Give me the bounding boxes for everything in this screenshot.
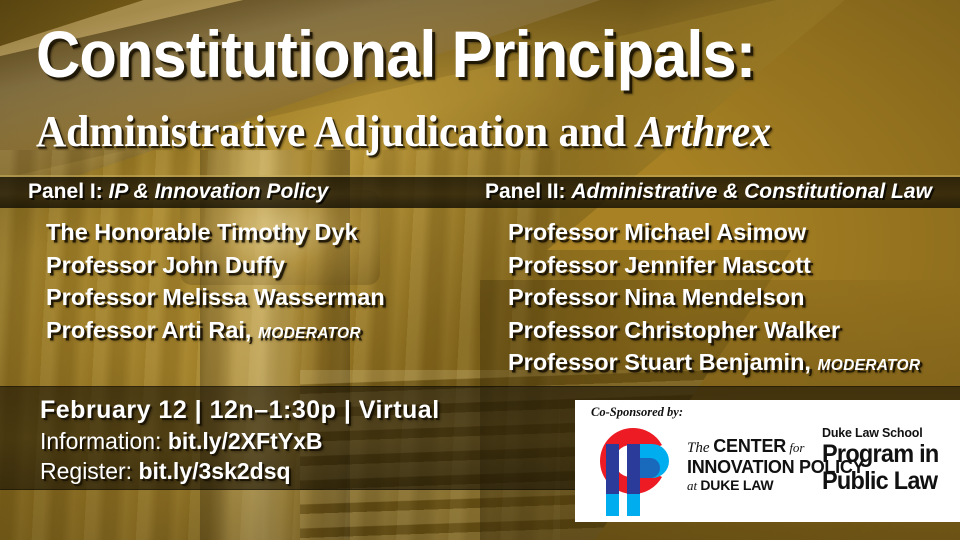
subtitle-prefix: Administrative Adjudication and: [36, 107, 636, 156]
cip-at: at: [687, 478, 700, 493]
cip-for: for: [786, 440, 804, 455]
information-label: Information:: [40, 428, 161, 454]
duke-law-school-label: Duke Law School: [822, 426, 946, 441]
cip-duke-law: DUKE LAW: [700, 477, 773, 493]
speaker-row: Professor Melissa Wasserman: [46, 283, 385, 316]
speaker-row: Professor Nina Mendelson: [508, 283, 920, 316]
speaker-name: Professor Melissa Wasserman: [46, 284, 385, 310]
speaker-row: Professor Christopher Walker: [508, 316, 920, 349]
speaker-row: The Honorable Timothy Dyk: [46, 218, 385, 251]
speaker-role: MODERATOR: [258, 325, 361, 342]
information-line: Information: bit.ly/2XFtYxB: [40, 428, 323, 455]
speaker-name: The Honorable Timothy Dyk: [46, 219, 358, 245]
event-datetime: February 12 | 12n–1:30p | Virtual: [40, 396, 440, 425]
speaker-name: Professor Jennifer Mascott: [508, 252, 811, 278]
program-in-line: Program in: [822, 441, 939, 468]
speaker-row: Professor Arti Rai, MODERATOR: [46, 316, 385, 349]
info-band-top-edge: [0, 386, 960, 387]
speaker-name: Professor Arti Rai,: [46, 317, 251, 343]
speaker-name: Professor Christopher Walker: [508, 317, 840, 343]
text-layer: Constitutional Principals: Administrativ…: [0, 0, 960, 540]
register-line: Register: bit.ly/3sk2dsq: [40, 458, 291, 485]
speaker-row: Professor Michael Asimow: [508, 218, 920, 251]
panel-2-label: Panel II:: [485, 180, 566, 203]
public-law-wordmark: Duke Law School Program in Public Law: [822, 426, 946, 495]
cip-center: CENTER: [713, 436, 786, 456]
cosponsored-label: Co-Sponsored by:: [591, 405, 683, 420]
speaker-row: Professor Jennifer Mascott: [508, 251, 920, 284]
speaker-name: Professor Michael Asimow: [508, 219, 806, 245]
speaker-row: Professor John Duffy: [46, 251, 385, 284]
panel-1-speaker-list: The Honorable Timothy Dyk Professor John…: [46, 218, 385, 348]
event-poster: Constitutional Principals: Administrativ…: [0, 0, 960, 540]
panel-1-heading: Panel I: IP & Innovation Policy: [28, 180, 328, 204]
sponsor-logo-card: Co-Sponsored by: The CENTER for INNOVATI…: [575, 400, 960, 522]
speaker-role: MODERATOR: [818, 357, 921, 374]
panel-2-speaker-list: Professor Michael Asimow Professor Jenni…: [508, 218, 920, 381]
poster-subtitle: Administrative Adjudication and Arthrex: [36, 108, 771, 156]
public-law-line: Public Law: [822, 468, 939, 495]
register-label: Register:: [40, 458, 132, 484]
speaker-name: Professor Stuart Benjamin,: [508, 349, 811, 375]
speaker-name: Professor Nina Mendelson: [508, 284, 804, 310]
cip-logo-icon: [585, 422, 683, 522]
panel-2-heading: Panel II: Administrative & Constitutiona…: [485, 180, 932, 204]
speaker-row: Professor Stuart Benjamin, MODERATOR: [508, 348, 920, 381]
panel-2-topic: Administrative & Constitutional Law: [571, 180, 932, 203]
information-link[interactable]: bit.ly/2XFtYxB: [168, 428, 323, 454]
cip-the: The: [687, 440, 713, 456]
register-link[interactable]: bit.ly/3sk2dsq: [138, 458, 290, 484]
panel-1-label: Panel I:: [28, 180, 103, 203]
speaker-name: Professor John Duffy: [46, 252, 285, 278]
subtitle-case-name: Arthrex: [636, 107, 771, 156]
poster-title: Constitutional Principals:: [36, 20, 873, 88]
panel-1-topic: IP & Innovation Policy: [109, 180, 329, 203]
